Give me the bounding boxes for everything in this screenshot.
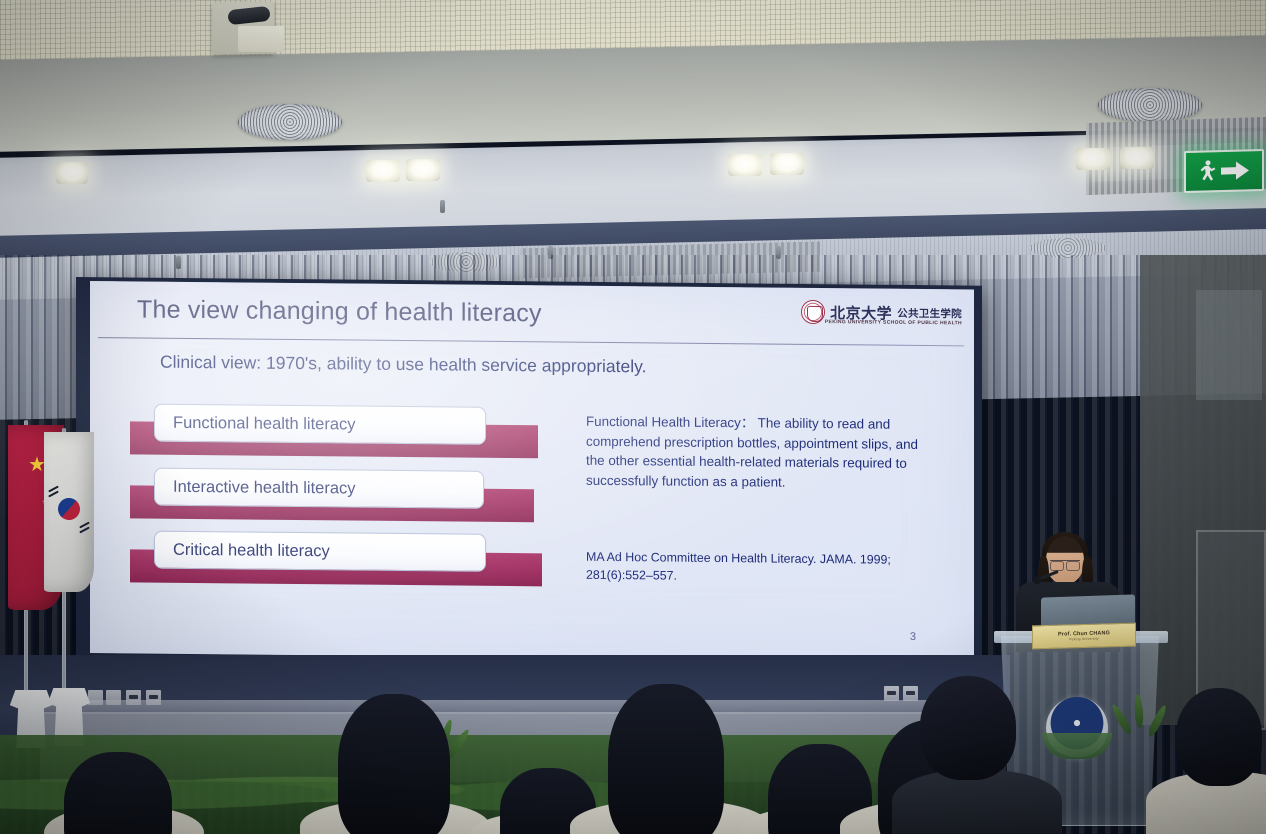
presentation-slide: The view changing of health literacy 北京大… [90,281,974,661]
ceiling-downlight [1076,148,1110,170]
list-item: Interactive health literacy [154,468,484,509]
wall-socket [106,690,121,705]
slide-number: 3 [910,631,916,643]
slide-title-divider [98,337,964,346]
audience-member [64,752,172,834]
list-item: Critical health literacy [154,531,486,572]
audience-member [920,676,1016,780]
wall-socket [146,690,161,705]
list-item-label: Critical health literacy [173,540,330,561]
wall-socket [126,690,141,705]
audience-member [608,684,724,834]
ceiling-camera-plate [238,26,284,52]
sprinkler-head [440,200,445,213]
ceiling-air-vent [238,104,342,140]
ceiling-downlight [366,160,400,182]
slide-subtitle: Clinical view: 1970's, ability to use he… [160,352,646,378]
ceiling-downlight [56,162,88,184]
definition-text: Functional Health Literacy： The ability … [586,412,926,494]
audience-member [338,694,450,834]
wall-socket [88,690,103,705]
nameplate-affiliation: Peking University [1069,637,1099,642]
presentation-room-photo: The view changing of health literacy 北京大… [0,0,1266,834]
speaker-nameplate: Prof. Chun CHANG Peking University [1032,623,1136,650]
slide-title: The view changing of health literacy [137,295,737,330]
wall-socket [903,686,918,701]
pku-logo-chinese-school: 公共卫生学院 [897,305,962,321]
taeguk-icon [54,494,84,524]
running-person-icon [1199,159,1217,183]
flag-south-korea [44,432,94,592]
ceiling-downlight [1120,147,1154,169]
pku-seal-icon [801,300,825,324]
audience-member [1176,688,1262,786]
list-item-label: Interactive health literacy [173,477,356,498]
list-item: Functional health literacy [154,404,486,445]
ceiling-downlight [728,154,762,176]
right-wall-recess [1196,290,1262,400]
ceiling-downlight [770,153,804,175]
wall-socket [884,686,899,701]
pku-logo-english: PEKING UNIVERSITY SCHOOL OF PUBLIC HEALT… [825,319,962,326]
arrow-right-icon [1220,159,1250,182]
emergency-exit-sign [1184,149,1264,193]
list-item-label: Functional health literacy [173,413,356,434]
ceiling-air-vent [1098,88,1202,122]
ceiling-downlight [406,159,440,181]
speaker-glasses [1050,560,1080,568]
citation-text: MA Ad Hoc Committee on Health Literacy. … [586,549,926,587]
podium-emblem-icon [1046,697,1108,759]
